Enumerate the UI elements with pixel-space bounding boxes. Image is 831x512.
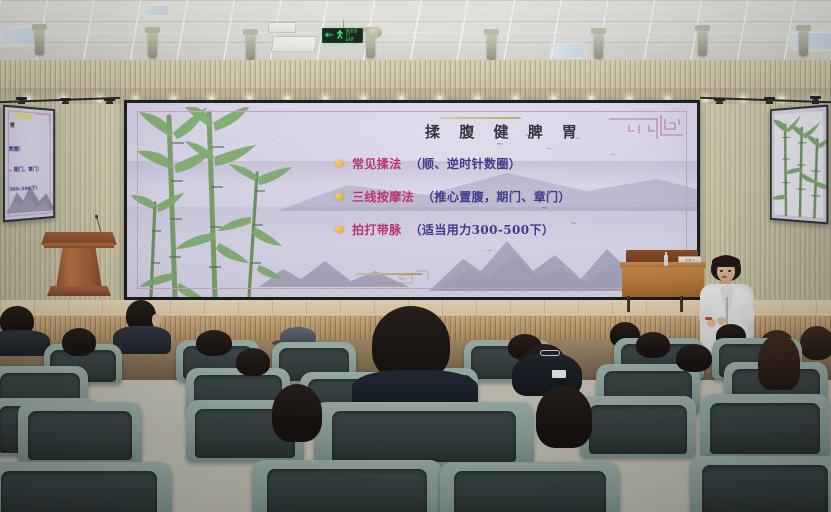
ceiling-downlight	[487, 34, 496, 60]
bullet-paren-text: （顺、逆时针数圈）	[410, 155, 522, 172]
seat-cushion	[702, 465, 828, 512]
audience-hand	[152, 314, 161, 326]
running-person-icon	[335, 30, 343, 41]
audience-head	[236, 348, 270, 376]
presentation-clicker[interactable]	[705, 317, 712, 320]
seat[interactable]	[690, 456, 831, 512]
ceiling-light-panel	[788, 33, 831, 49]
audience-head	[196, 330, 232, 356]
ceiling-downlight	[594, 33, 603, 59]
left-display-mountains-icon	[5, 175, 53, 213]
table-skirt	[622, 267, 704, 297]
seat-cushion	[710, 403, 819, 454]
bullet-main-text: 三线按摩法	[352, 188, 414, 205]
exit-sign: ← 安全出口 EXIT	[322, 28, 363, 43]
bullet-dot-icon	[335, 226, 344, 233]
projection-screen[interactable]: ∼ ∼ ∼ ∼ ∼ ∼ ∼ ∼	[124, 100, 700, 300]
slide-bullet-list: 常见揉法 （顺、逆时针数圈） 三线按摩法 （推心置腹，期门、章门） 拍打带脉 （…	[335, 155, 679, 254]
ceiling-beam	[0, 9, 831, 12]
audience-head	[636, 332, 670, 358]
audience-head	[758, 334, 800, 390]
audience-head	[800, 326, 831, 360]
left-side-display[interactable]: 胃 数圈） ，期门、章门） 300-500下）	[3, 105, 55, 223]
ceiling-vent-panel	[268, 22, 296, 33]
seat-cushion	[589, 405, 686, 455]
presenter-fringe	[712, 256, 740, 267]
left-display-text-1: 数圈）	[9, 145, 24, 152]
bullet-main-text: 拍打带脉	[352, 221, 402, 238]
seat-cushion	[1, 471, 157, 512]
right-display-bamboo-icon	[772, 107, 827, 222]
slide-bullet-item: 常见揉法 （顺、逆时针数圈）	[335, 155, 679, 172]
seat[interactable]	[314, 402, 534, 466]
exit-label-en: EXIT	[346, 37, 354, 42]
exit-sign-label: 安全出口 EXIT	[346, 29, 360, 42]
audience-shoulders	[0, 330, 50, 356]
seat-cushion	[454, 471, 605, 512]
exit-sign-stem	[343, 20, 344, 28]
slide-cloud-motif-icon	[372, 267, 432, 285]
bullet-main-text: 常见揉法	[352, 155, 402, 172]
ceiling-light-panel	[145, 6, 169, 15]
right-side-display[interactable]	[770, 105, 828, 225]
podium-base	[47, 286, 111, 296]
bullet-paren-text: （推心置腹，期门、章门）	[422, 188, 571, 205]
seat[interactable]	[440, 462, 620, 512]
left-display-text-2: ，期门、章门）	[9, 166, 42, 173]
table-leg	[680, 296, 683, 312]
wooden-podium[interactable]	[41, 232, 117, 298]
ceiling-downlight	[148, 32, 157, 58]
seat-cushion	[267, 469, 427, 512]
right-side-display-content	[772, 107, 827, 222]
bullet-dot-icon	[335, 160, 344, 167]
seat[interactable]	[252, 460, 442, 512]
presenter-left-hand	[707, 319, 716, 327]
podium-lip	[44, 243, 114, 248]
audience-head	[272, 384, 322, 442]
slide-content: ∼ ∼ ∼ ∼ ∼ ∼ ∼ ∼	[127, 103, 697, 297]
seat[interactable]	[700, 394, 830, 458]
ceiling-vent-panel	[271, 36, 318, 52]
left-arrow-icon: ←	[325, 31, 333, 41]
audience-glasses-icon	[540, 350, 560, 356]
bullet-paren-text: （适当用力300-500下）	[410, 221, 555, 238]
table-leg	[627, 296, 630, 312]
ceiling-downlight	[799, 30, 808, 56]
title-top-rule	[439, 117, 521, 119]
podium-body	[56, 248, 102, 288]
bullet-dot-icon	[335, 193, 344, 200]
audience-jacket-tag	[552, 370, 566, 378]
audience-head	[676, 344, 712, 372]
left-display-text-0: 胃	[10, 122, 15, 129]
slide-bottom-rule	[356, 273, 422, 275]
seat[interactable]	[580, 396, 696, 458]
left-side-display-content: 胃 数圈） ，期门、章门） 300-500下）	[5, 107, 53, 220]
lecture-hall-scene: ← 安全出口 EXIT	[0, 0, 831, 512]
ceiling: ← 安全出口 EXIT	[0, 0, 831, 62]
ceiling-light-panel	[552, 44, 585, 57]
presenter-table[interactable]: 主讲人	[620, 262, 710, 318]
audience-head	[62, 328, 96, 356]
presenter-eye	[720, 270, 723, 272]
audience-head	[536, 386, 592, 448]
water-bottle[interactable]	[664, 255, 668, 266]
ceiling-downlight	[698, 30, 707, 56]
nameplate: 主讲人	[678, 256, 702, 263]
slide-bullet-item: 三线按摩法 （推心置腹，期门、章门）	[335, 188, 679, 205]
slide-bullet-item: 拍打带脉 （适当用力300-500下）	[335, 221, 679, 238]
ceiling-speaker-dome	[367, 27, 382, 38]
presenter-eye	[728, 270, 731, 272]
seat[interactable]	[0, 462, 172, 512]
seat-cushion	[332, 411, 517, 462]
ceiling-downlight	[246, 34, 255, 60]
seat-cushion	[28, 411, 132, 461]
ceiling-downlight	[35, 29, 44, 55]
seat[interactable]	[18, 402, 142, 464]
slide-title: 揉 腹 健 脾 胃	[127, 121, 697, 142]
